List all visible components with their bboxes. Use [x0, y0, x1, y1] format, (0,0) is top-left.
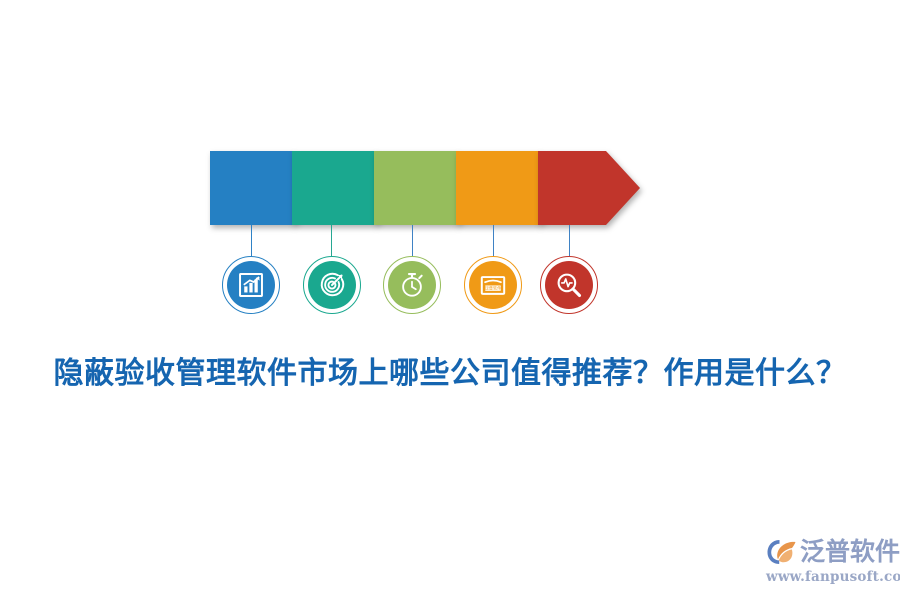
- bar-chart-growth-icon: [237, 271, 265, 299]
- stopwatch-icon: [398, 271, 426, 299]
- brand-logo[interactable]: 泛普软件 www.fanpusoft.com: [766, 536, 896, 588]
- step-icon-magnifier-pulse[interactable]: [540, 256, 598, 314]
- step-icon-bar-chart-growth[interactable]: [222, 256, 280, 314]
- banner-segment-5: [538, 151, 640, 225]
- process-banner: [210, 151, 640, 225]
- step-icon-stopwatch[interactable]: [383, 256, 441, 314]
- step-icon-presentation-board[interactable]: 泛普软件: [464, 256, 522, 314]
- logo-row: 泛普软件: [766, 536, 896, 568]
- step-icon-target-dart[interactable]: [303, 256, 361, 314]
- presentation-board-label: 泛普软件: [485, 285, 501, 291]
- presentation-board-icon: 泛普软件: [479, 271, 507, 299]
- logo-url-text: www.fanpusoft.com: [766, 569, 896, 586]
- magnifier-pulse-icon: [555, 271, 583, 299]
- fanpu-swoosh-logo-icon: [766, 537, 798, 567]
- chevron-shape-5: [538, 151, 640, 225]
- page-root: 泛普软件 隐蔽验收管理软件市场上哪些公司值得推荐？作用是什么？: [0, 0, 900, 600]
- page-title: 隐蔽验收管理软件市场上哪些公司值得推荐？作用是什么？: [0, 352, 900, 396]
- logo-brand-text: 泛普软件: [800, 537, 900, 567]
- target-dart-icon: [318, 271, 346, 299]
